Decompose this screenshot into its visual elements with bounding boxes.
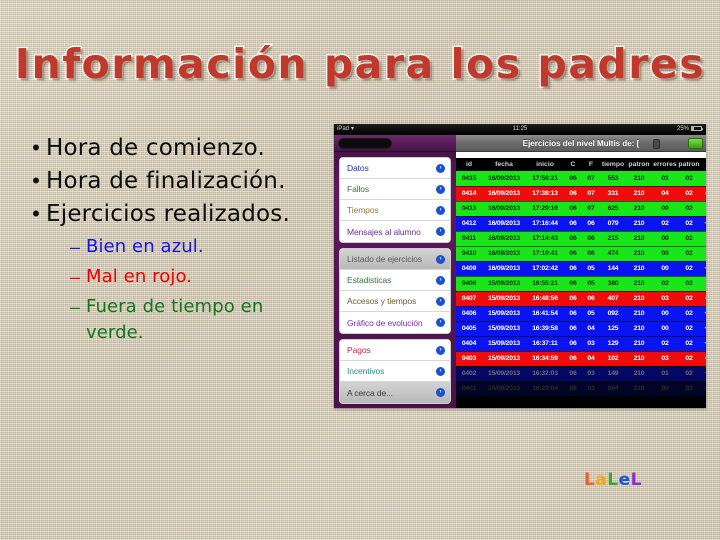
- battery-icon: [691, 126, 702, 131]
- table-row[interactable]: 041216/09/201317:16:4406060792100202+1: [456, 216, 706, 231]
- chevron-right-icon[interactable]: ›: [436, 255, 445, 264]
- table-cell-inicio: 16:41:54: [526, 306, 564, 321]
- content-panel: Ejercicios del nivel Multis de: [ id fec…: [456, 135, 706, 408]
- table-cell-patron: 210: [626, 261, 652, 276]
- bullet-marker-icon: •: [26, 133, 46, 163]
- table-cell-patron: 02: [678, 291, 700, 306]
- sidebar-item-label: Mensajes al alumno: [347, 227, 436, 237]
- table-row[interactable]: 040615/09/201316:41:5406050922100002+1: [456, 306, 706, 321]
- table-cell-patron: 210: [626, 216, 652, 231]
- table-row[interactable]: 041116/09/201317:14:43060621521000020: [456, 231, 706, 246]
- column-header-inicio: inicio: [526, 158, 564, 171]
- table-cell-s: +1: [700, 366, 706, 381]
- table-cell-inicio: 17:10:41: [526, 246, 564, 261]
- table-cell-c: 06: [564, 321, 582, 336]
- bullet-text: Hora de comienzo.: [46, 133, 265, 164]
- table-cell-f: 03: [582, 336, 600, 351]
- chevron-right-icon[interactable]: ›: [436, 367, 445, 376]
- table-cell-inicio: 16:37:11: [526, 336, 564, 351]
- table-cell-tiempo: 215: [600, 231, 626, 246]
- table-cell-id: 0403: [456, 351, 482, 366]
- table-row[interactable]: 041016/09/201317:10:41060647421000020: [456, 246, 706, 261]
- table-cell-f: 05: [582, 261, 600, 276]
- table-cell-c: 06: [564, 381, 582, 396]
- content-navbar: Ejercicios del nivel Multis de: [: [456, 135, 706, 152]
- sidebar-group-3: Pagos › Incentivos › A cerca de... ›: [339, 339, 451, 404]
- table-cell-c: 06: [564, 366, 582, 381]
- sidebar-item-label: Fallos: [347, 184, 436, 194]
- table-cell-id: 0412: [456, 216, 482, 231]
- table-cell-id: 0402: [456, 366, 482, 381]
- table-cell-c: 06: [564, 351, 582, 366]
- ipad-screenshot: iPad▾ 11:25 25% Datos › Fallos › Tiempos…: [334, 124, 706, 408]
- table-cell-id: 0410: [456, 246, 482, 261]
- table-cell-errores: 00: [652, 261, 678, 276]
- table-cell-id: 0415: [456, 171, 482, 186]
- table-cell-id: 0413: [456, 201, 482, 216]
- table-cell-fecha: 16/09/2013: [482, 261, 526, 276]
- chevron-right-icon[interactable]: ›: [436, 297, 445, 306]
- watermark-letter: L: [607, 470, 618, 490]
- chevron-right-icon[interactable]: ›: [436, 346, 445, 355]
- table-cell-c: 06: [564, 306, 582, 321]
- table-cell-fecha: 15/09/2013: [482, 276, 526, 291]
- table-cell-tiempo: 553: [600, 171, 626, 186]
- table-row[interactable]: 040815/09/201316:55:21060538021002020: [456, 276, 706, 291]
- table-cell-patron: 02: [678, 171, 700, 186]
- table-cell-id: 0404: [456, 336, 482, 351]
- table-cell-errores: 00: [652, 246, 678, 261]
- column-header-s: S: [700, 158, 706, 171]
- table-cell-inicio: 16:32:03: [526, 366, 564, 381]
- chevron-right-icon[interactable]: ›: [436, 318, 445, 327]
- dash-marker-icon: –: [70, 294, 86, 320]
- table-cell-patron: 02: [678, 381, 700, 396]
- table-cell-s: -1: [700, 291, 706, 306]
- chevron-right-icon[interactable]: ›: [436, 227, 445, 236]
- list-item: – Mal en rojo.: [70, 264, 336, 290]
- table-cell-inicio: 16:55:21: [526, 276, 564, 291]
- table-cell-c: 06: [564, 291, 582, 306]
- table-cell-c: 06: [564, 231, 582, 246]
- table-cell-patron: 210: [626, 246, 652, 261]
- table-cell-fecha: 15/09/2013: [482, 321, 526, 336]
- table-cell-fecha: 15/09/2013: [482, 366, 526, 381]
- table-cell-f: 07: [582, 201, 600, 216]
- table-cell-tiempo: 079: [600, 216, 626, 231]
- sidebar-item-label: Gráfico de evolución: [347, 318, 436, 328]
- table-cell-patron: 210: [626, 336, 652, 351]
- table-cell-patron: 02: [678, 276, 700, 291]
- table-cell-inicio: 16:29:04: [526, 381, 564, 396]
- sub-bullet-list: – Bien en azul. – Mal en rojo. – Fuera d…: [26, 234, 336, 346]
- sidebar-item-grafico-de-evolucion[interactable]: Gráfico de evolución ›: [340, 312, 450, 333]
- sub-bullet-text: Mal en rojo.: [86, 264, 192, 290]
- table-cell-patron: 02: [678, 321, 700, 336]
- sidebar-item-label: Datos: [347, 163, 436, 173]
- table-cell-tiempo: 144: [600, 261, 626, 276]
- table-cell-fecha: 16/09/2013: [482, 201, 526, 216]
- sidebar-item-a-cerca-de[interactable]: A cerca de... ›: [340, 382, 450, 403]
- column-header-patron-2: patron: [678, 158, 700, 171]
- table-cell-id: 0411: [456, 231, 482, 246]
- table-cell-s: 0: [700, 246, 706, 261]
- table-row[interactable]: 041516/09/201317:50:21060755321001020: [456, 171, 706, 186]
- table-cell-errores: 01: [652, 366, 678, 381]
- table-cell-fecha: 15/09/2013: [482, 381, 526, 396]
- table-cell-c: 06: [564, 216, 582, 231]
- table-cell-errores: 00: [652, 231, 678, 246]
- table-cell-f: 06: [582, 216, 600, 231]
- table-cell-inicio: 16:34:59: [526, 351, 564, 366]
- table-cell-tiempo: 407: [600, 291, 626, 306]
- table-cell-s: +1: [700, 321, 706, 336]
- table-cell-inicio: 17:02:42: [526, 261, 564, 276]
- table-row[interactable]: 040715/09/201316:48:5606064072100302-1: [456, 291, 706, 306]
- table-cell-s: -1: [700, 186, 706, 201]
- table-cell-id: 0407: [456, 291, 482, 306]
- sub-bullet-text: Fuera de tiempo en verde.: [86, 294, 281, 346]
- table-cell-s: +1: [700, 336, 706, 351]
- table-cell-patron: 02: [678, 261, 700, 276]
- list-item: – Bien en azul.: [70, 234, 336, 260]
- status-time: 11:25: [334, 124, 706, 135]
- sidebar-item-datos[interactable]: Datos ›: [340, 158, 450, 179]
- table-cell-errores: 02: [652, 336, 678, 351]
- column-header-errores: errores: [652, 158, 678, 171]
- table-cell-errores: 02: [652, 276, 678, 291]
- chevron-right-icon[interactable]: ›: [436, 164, 445, 173]
- table-cell-errores: 02: [652, 216, 678, 231]
- table-cell-patron: 02: [678, 186, 700, 201]
- column-header-patron-1: patron: [626, 158, 652, 171]
- table-cell-id: 0414: [456, 186, 482, 201]
- table-cell-c: 06: [564, 171, 582, 186]
- sidebar-item-label: A cerca de...: [347, 388, 436, 398]
- bullet-marker-icon: •: [26, 199, 46, 229]
- bullet-marker-icon: •: [26, 166, 46, 196]
- table-cell-inicio: 17:50:21: [526, 171, 564, 186]
- column-header-tiempo: tiempo: [600, 158, 626, 171]
- sidebar-item-incentivos[interactable]: Incentivos ›: [340, 361, 450, 382]
- table-cell-tiempo: 102: [600, 351, 626, 366]
- sidebar-group-1: Datos › Fallos › Tiempos › Mensajes al a…: [339, 157, 451, 243]
- sidebar-item-mensajes-al-alumno[interactable]: Mensajes al alumno ›: [340, 221, 450, 242]
- list-item: • Ejercicios realizados.: [26, 199, 336, 230]
- page-title: Información para los padres: [0, 40, 720, 88]
- table-cell-tiempo: 125: [600, 321, 626, 336]
- table-cell-fecha: 15/09/2013: [482, 291, 526, 306]
- table-cell-f: 03: [582, 381, 600, 396]
- bullet-text: Ejercicios realizados.: [46, 199, 290, 230]
- table-cell-errores: 03: [652, 351, 678, 366]
- table-cell-errores: 01: [652, 171, 678, 186]
- table-cell-id: 0406: [456, 306, 482, 321]
- sidebar-item-label: Listado de ejercicios: [347, 254, 436, 264]
- table-cell-patron: 02: [678, 231, 700, 246]
- sidebar-item-estadisticas[interactable]: Estadisticas ›: [340, 270, 450, 291]
- table-cell-f: 06: [582, 291, 600, 306]
- table-cell-patron: 210: [626, 366, 652, 381]
- status-battery: 25%: [677, 124, 702, 135]
- table-cell-fecha: 15/09/2013: [482, 336, 526, 351]
- table-cell-fecha: 16/09/2013: [482, 246, 526, 261]
- sidebar-item-pagos[interactable]: Pagos ›: [340, 340, 450, 361]
- sidebar-item-accesos-y-tiempos[interactable]: Accesos y tiempos ›: [340, 291, 450, 312]
- table-cell-f: 07: [582, 171, 600, 186]
- table-cell-tiempo: 474: [600, 246, 626, 261]
- table-cell-id: 0401: [456, 381, 482, 396]
- table-cell-s: 0: [700, 276, 706, 291]
- table-cell-fecha: 16/09/2013: [482, 186, 526, 201]
- table-cell-tiempo: 149: [600, 366, 626, 381]
- table-header-row: id fecha inicio C F tiempo patron errore…: [456, 158, 706, 171]
- table-cell-id: 0408: [456, 276, 482, 291]
- table-cell-c: 06: [564, 261, 582, 276]
- table-cell-f: 05: [582, 306, 600, 321]
- table-cell-tiempo: 064: [600, 381, 626, 396]
- table-row[interactable]: 040215/09/201316:32:0306031492100102+1: [456, 366, 706, 381]
- status-bar: iPad▾ 11:25 25%: [334, 124, 706, 135]
- table-cell-errores: 04: [652, 186, 678, 201]
- table-cell-patron: 210: [626, 291, 652, 306]
- sidebar-search-field[interactable]: [338, 138, 392, 149]
- table-row[interactable]: 040415/09/201316:37:1106031292100202+1: [456, 336, 706, 351]
- table-cell-s: 0: [700, 171, 706, 186]
- table-cell-c: 06: [564, 186, 582, 201]
- list-item: • Hora de finalización.: [26, 166, 336, 197]
- table-row[interactable]: 040315/09/201316:34:5906041022100302-1: [456, 351, 706, 366]
- content-title: Ejercicios del nivel Multis de: [: [523, 139, 639, 148]
- bullet-text: Hora de finalización.: [46, 166, 286, 197]
- sidebar-item-label: Estadisticas: [347, 275, 436, 285]
- table-cell-tiempo: 625: [600, 201, 626, 216]
- watermark-letter: L: [584, 470, 595, 490]
- table-cell-fecha: 16/09/2013: [482, 171, 526, 186]
- table-cell-s: +1: [700, 381, 706, 396]
- table-cell-errores: 00: [652, 321, 678, 336]
- sidebar-group-2: Listado de ejercicios › Estadisticas › A…: [339, 248, 451, 334]
- table-cell-f: 05: [582, 276, 600, 291]
- column-header-id: id: [456, 158, 482, 171]
- table-cell-f: 04: [582, 351, 600, 366]
- sidebar-item-label: Accesos y tiempos: [347, 296, 436, 306]
- chevron-right-icon[interactable]: ›: [436, 185, 445, 194]
- column-header-fecha: fecha: [482, 158, 526, 171]
- table-cell-errores: 00: [652, 201, 678, 216]
- table-cell-s: +1: [700, 261, 706, 276]
- table-cell-fecha: 16/09/2013: [482, 216, 526, 231]
- table-cell-inicio: 17:29:16: [526, 201, 564, 216]
- table-cell-errores: 00: [652, 306, 678, 321]
- green-action-button[interactable]: [688, 138, 703, 149]
- sidebar: Datos › Fallos › Tiempos › Mensajes al a…: [334, 135, 456, 408]
- table-cell-fecha: 15/09/2013: [482, 351, 526, 366]
- table-cell-s: 0: [700, 231, 706, 246]
- table-cell-s: -1: [700, 351, 706, 366]
- table-cell-c: 06: [564, 336, 582, 351]
- table-cell-patron: 02: [678, 246, 700, 261]
- table-cell-patron: 210: [626, 321, 652, 336]
- table-cell-patron: 210: [626, 231, 652, 246]
- table-cell-f: 06: [582, 231, 600, 246]
- table-cell-c: 06: [564, 276, 582, 291]
- table-cell-patron: 02: [678, 201, 700, 216]
- table-cell-inicio: 17:16:44: [526, 216, 564, 231]
- list-item: – Fuera de tiempo en verde.: [70, 294, 336, 346]
- table-body: 041516/09/201317:50:21060755321001020041…: [456, 171, 706, 396]
- table-cell-fecha: 16/09/2013: [482, 231, 526, 246]
- table-cell-inicio: 16:39:58: [526, 321, 564, 336]
- table-cell-patron: 210: [626, 171, 652, 186]
- sidebar-item-label: Tiempos: [347, 205, 436, 215]
- table-cell-tiempo: 331: [600, 186, 626, 201]
- table-cell-inicio: 16:48:56: [526, 291, 564, 306]
- table-cell-s: +1: [700, 306, 706, 321]
- bullet-list: • Hora de comienzo. • Hora de finalizaci…: [26, 133, 336, 350]
- table-cell-patron: 210: [626, 186, 652, 201]
- table-cell-patron: 02: [678, 366, 700, 381]
- stepper-icon[interactable]: [653, 139, 660, 149]
- table-row[interactable]: 041316/09/201317:29:16060762521000020: [456, 201, 706, 216]
- column-header-f: F: [582, 158, 600, 171]
- watermark-letter: L: [631, 470, 642, 490]
- table-cell-id: 0405: [456, 321, 482, 336]
- table-cell-patron: 210: [626, 276, 652, 291]
- table-cell-errores: 03: [652, 291, 678, 306]
- table-cell-patron: 02: [678, 351, 700, 366]
- chevron-right-icon[interactable]: ›: [436, 206, 445, 215]
- table-cell-patron: 210: [626, 351, 652, 366]
- table-cell-inicio: 17:14:43: [526, 231, 564, 246]
- sidebar-item-listado-de-ejercicios[interactable]: Listado de ejercicios ›: [340, 249, 450, 270]
- table-cell-patron: 02: [678, 336, 700, 351]
- table-cell-patron: 210: [626, 201, 652, 216]
- exercises-table: id fecha inicio C F tiempo patron errore…: [456, 158, 706, 397]
- sub-bullet-text: Bien en azul.: [86, 234, 204, 260]
- table-cell-fecha: 15/09/2013: [482, 306, 526, 321]
- dash-marker-icon: –: [70, 264, 86, 290]
- table-cell-inicio: 17:38:13: [526, 186, 564, 201]
- table-cell-id: 0409: [456, 261, 482, 276]
- chevron-right-icon[interactable]: ›: [436, 388, 445, 397]
- table-cell-patron: 210: [626, 306, 652, 321]
- chevron-right-icon[interactable]: ›: [436, 276, 445, 285]
- watermark-letter: a: [595, 470, 607, 490]
- table-cell-c: 06: [564, 201, 582, 216]
- list-item: • Hora de comienzo.: [26, 133, 336, 164]
- table-cell-c: 06: [564, 246, 582, 261]
- watermark-letter: e: [619, 470, 631, 490]
- table-row[interactable]: 041416/09/201317:38:1306073312100402-1: [456, 186, 706, 201]
- table-row[interactable]: 040515/09/201316:39:5806041252100002+1: [456, 321, 706, 336]
- table-cell-s: 0: [700, 201, 706, 216]
- table-cell-errores: 00: [652, 381, 678, 396]
- sidebar-item-label: Pagos: [347, 345, 436, 355]
- table-cell-s: +1: [700, 216, 706, 231]
- table-cell-patron: 210: [626, 381, 652, 396]
- table-cell-f: 07: [582, 186, 600, 201]
- table-row[interactable]: 040916/09/201317:02:4206051442100002+1: [456, 261, 706, 276]
- sidebar-item-tiempos[interactable]: Tiempos ›: [340, 200, 450, 221]
- dash-marker-icon: –: [70, 234, 86, 260]
- table-cell-f: 03: [582, 366, 600, 381]
- sidebar-item-label: Incentivos: [347, 366, 436, 376]
- column-header-c: C: [564, 158, 582, 171]
- table-cell-f: 06: [582, 246, 600, 261]
- sidebar-navbar: [334, 135, 456, 152]
- table-cell-f: 04: [582, 321, 600, 336]
- table-cell-tiempo: 092: [600, 306, 626, 321]
- table-cell-tiempo: 380: [600, 276, 626, 291]
- table-row[interactable]: 040115/09/201316:29:0406030642100002+1: [456, 381, 706, 396]
- table-cell-patron: 02: [678, 216, 700, 231]
- table-cell-tiempo: 129: [600, 336, 626, 351]
- table-cell-patron: 02: [678, 306, 700, 321]
- watermark: LaLeL: [584, 470, 642, 490]
- sidebar-item-fallos[interactable]: Fallos ›: [340, 179, 450, 200]
